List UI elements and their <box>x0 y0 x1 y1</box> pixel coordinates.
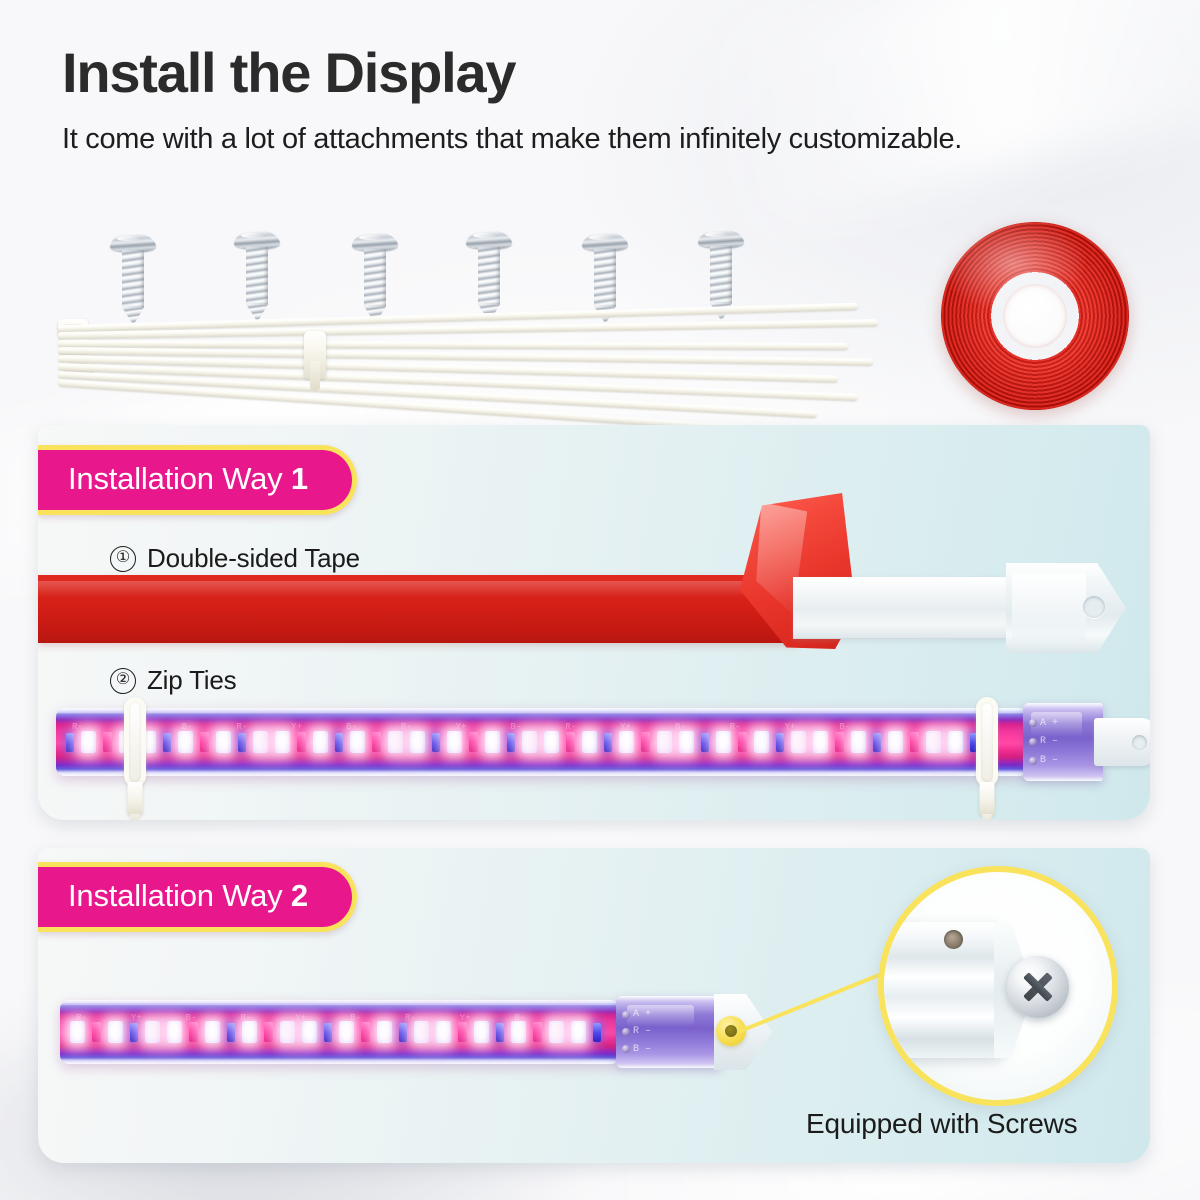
led-chip-pink <box>469 732 478 752</box>
led-chip-pink <box>200 732 209 752</box>
led-chip-white <box>619 731 634 753</box>
led-chip-white <box>522 731 537 753</box>
zip-tie-wrap <box>124 697 146 787</box>
step-label-text: Double-sided Tape <box>147 543 360 574</box>
strip-end-cap <box>1006 563 1126 653</box>
screw-shank <box>364 249 386 307</box>
led-chip-pink <box>189 1022 198 1042</box>
led-chip-white <box>205 1021 220 1043</box>
step-number-1: ① <box>110 546 136 572</box>
cap-pin-label: R – <box>1040 736 1058 747</box>
led-chip-white <box>167 1021 182 1043</box>
led-chip-white <box>851 731 866 753</box>
led-chip-blue <box>324 1023 332 1042</box>
led-chip-white <box>275 731 290 753</box>
led-chip-pink <box>372 732 381 752</box>
led-chip-white <box>447 731 462 753</box>
led-chip-blue <box>873 733 881 752</box>
led-chip-blue <box>776 733 784 752</box>
page-title: Install the Display <box>62 44 1152 103</box>
double-sided-tape-band <box>38 575 798 643</box>
led-chip-row <box>56 708 1028 776</box>
led-chip-pink <box>533 1022 542 1042</box>
screw-shank <box>710 246 732 304</box>
led-chip-blue <box>432 733 440 752</box>
led-end-cap: A + R – B – <box>1023 703 1103 781</box>
tape-roll-hole <box>1003 284 1067 348</box>
cap-pin-dot <box>1029 738 1037 746</box>
led-chip-white <box>81 731 96 753</box>
led-cap-mount-tab <box>1094 718 1150 766</box>
led-chip-blue <box>604 733 612 752</box>
led-chip-blue <box>130 1023 138 1042</box>
zip-tie-tail <box>980 782 995 816</box>
led-chip-white <box>571 1021 586 1043</box>
header: Install the Display It come with a lot o… <box>62 44 1152 156</box>
infographic-page: Install the Display It come with a lot o… <box>0 0 1200 1200</box>
led-chip-blue <box>227 1023 235 1042</box>
led-chip-white <box>679 731 694 753</box>
led-cap-pin-labels: A + R – B – <box>622 1006 651 1058</box>
zip-tie-wrap <box>976 697 998 787</box>
zip-tie-ring <box>124 697 146 787</box>
led-chip-white <box>549 1021 564 1043</box>
screw-shank <box>478 247 500 305</box>
step-zip-ties: ② Zip Ties <box>110 665 236 696</box>
led-chip-blue <box>593 1023 601 1042</box>
installation-way-1-panel: Installation Way 1 ① Double-sided Tape ②… <box>38 425 1150 820</box>
magnified-screw-hole <box>944 930 963 949</box>
led-end-cap: A + R – B – <box>616 996 721 1068</box>
way-1-badge-prefix: Installation Way <box>68 461 291 496</box>
led-chip-white <box>474 1021 489 1043</box>
led-chip-blue <box>163 733 171 752</box>
cap-pin-label: A + <box>1040 718 1058 729</box>
screws-caption: Equipped with Screws <box>806 1108 1077 1140</box>
led-chip-white <box>388 731 403 753</box>
cap-pin-label: B – <box>1040 755 1058 766</box>
led-chip-pink <box>103 732 112 752</box>
led-chip-white <box>350 731 365 753</box>
led-chip-white <box>302 1021 317 1043</box>
led-chip-white <box>280 1021 295 1043</box>
zip-tie-center-clip <box>304 331 326 379</box>
led-chip-blue <box>507 733 515 752</box>
step-double-sided-tape: ① Double-sided Tape <box>110 543 360 574</box>
cap-pin-label: B – <box>633 1044 651 1055</box>
led-chip-pink <box>835 732 844 752</box>
zip-tie-ring <box>976 697 998 787</box>
magnified-end-cap <box>878 922 1008 1058</box>
led-chip-white <box>485 731 500 753</box>
led-cap-pin-labels: A + R – B – <box>1029 714 1058 770</box>
magnifier-detail-icon <box>878 866 1118 1106</box>
page-subtitle: It come with a lot of attachments that m… <box>62 123 1152 156</box>
led-chip-white <box>410 731 425 753</box>
way-1-badge: Installation Way 1 <box>38 445 357 515</box>
cap-pin-dot <box>1029 757 1037 765</box>
tape-roll-icon <box>941 222 1129 410</box>
led-chip-white <box>657 731 672 753</box>
led-chip-white <box>145 1021 160 1043</box>
led-chip-white <box>948 731 963 753</box>
led-chip-white <box>216 731 231 753</box>
way-2-badge-number: 2 <box>291 878 308 913</box>
phillips-screw-icon <box>1007 956 1069 1018</box>
led-chip-white <box>754 731 769 753</box>
led-chip-white <box>791 731 806 753</box>
led-chip-white <box>716 731 731 753</box>
step-number-2: ② <box>110 668 136 694</box>
led-chip-white <box>813 731 828 753</box>
led-chip-white <box>926 731 941 753</box>
led-chip-white <box>511 1021 526 1043</box>
way-1-badge-number: 1 <box>291 461 308 496</box>
led-chip-blue <box>399 1023 407 1042</box>
led-chip-blue <box>66 733 74 752</box>
led-chip-white <box>108 1021 123 1043</box>
strip-end-cap-hole <box>1083 596 1105 618</box>
led-chip-pink <box>910 732 919 752</box>
cap-pin-label: R – <box>633 1026 651 1037</box>
zip-tie-bundle <box>58 305 898 405</box>
led-chip-white <box>414 1021 429 1043</box>
led-chip-pink <box>566 732 575 752</box>
led-chip-blue <box>238 733 246 752</box>
led-chip-white <box>377 1021 392 1043</box>
screw-shank <box>122 250 144 308</box>
led-chip-pink <box>738 732 747 752</box>
led-chip-white <box>242 1021 257 1043</box>
led-cap-mount-hole <box>1132 735 1147 750</box>
led-strip-body: R-Y+B-R-Y+B- R-Y+B-R-Y+B- R-Y+B- <box>56 708 1028 776</box>
step-label-text: Zip Ties <box>147 665 236 696</box>
led-chip-blue <box>335 733 343 752</box>
led-chip-pink <box>641 732 650 752</box>
led-chip-row <box>60 1000 620 1064</box>
led-chip-blue <box>496 1023 504 1042</box>
cap-pin-dot <box>1029 719 1037 727</box>
led-strip-icon: R-Y+B-R-Y+B- R-Y+B- <box>60 1000 620 1064</box>
led-chip-white <box>178 731 193 753</box>
led-chip-white <box>888 731 903 753</box>
led-chip-pink <box>264 1022 273 1042</box>
led-chip-pink <box>92 1022 101 1042</box>
led-chip-pink <box>458 1022 467 1042</box>
led-strip-body: R-Y+B-R-Y+B- R-Y+B- <box>60 1000 620 1064</box>
accessories-row <box>0 205 1200 420</box>
led-chip-white <box>544 731 559 753</box>
cap-pin-dot <box>622 1028 630 1036</box>
led-chip-white <box>582 731 597 753</box>
screw-shank <box>594 249 616 307</box>
way-2-badge: Installation Way 2 <box>38 862 357 932</box>
way-2-badge-prefix: Installation Way <box>68 878 291 913</box>
zip-tie-tail <box>128 782 143 816</box>
led-chip-white <box>70 1021 85 1043</box>
led-chip-white <box>339 1021 354 1043</box>
led-chip-pink <box>361 1022 370 1042</box>
cap-pin-dot <box>622 1011 630 1019</box>
led-chip-pink <box>297 732 306 752</box>
led-strip-icon: R-Y+B-R-Y+B- R-Y+B-R-Y+B- R-Y+B- <box>56 708 1028 776</box>
led-chip-white <box>313 731 328 753</box>
cap-pin-label: A + <box>633 1009 651 1020</box>
led-chip-white <box>253 731 268 753</box>
cap-pin-dot <box>622 1045 630 1053</box>
screw-shank <box>246 247 268 305</box>
led-chip-blue <box>701 733 709 752</box>
led-chip-white <box>436 1021 451 1043</box>
